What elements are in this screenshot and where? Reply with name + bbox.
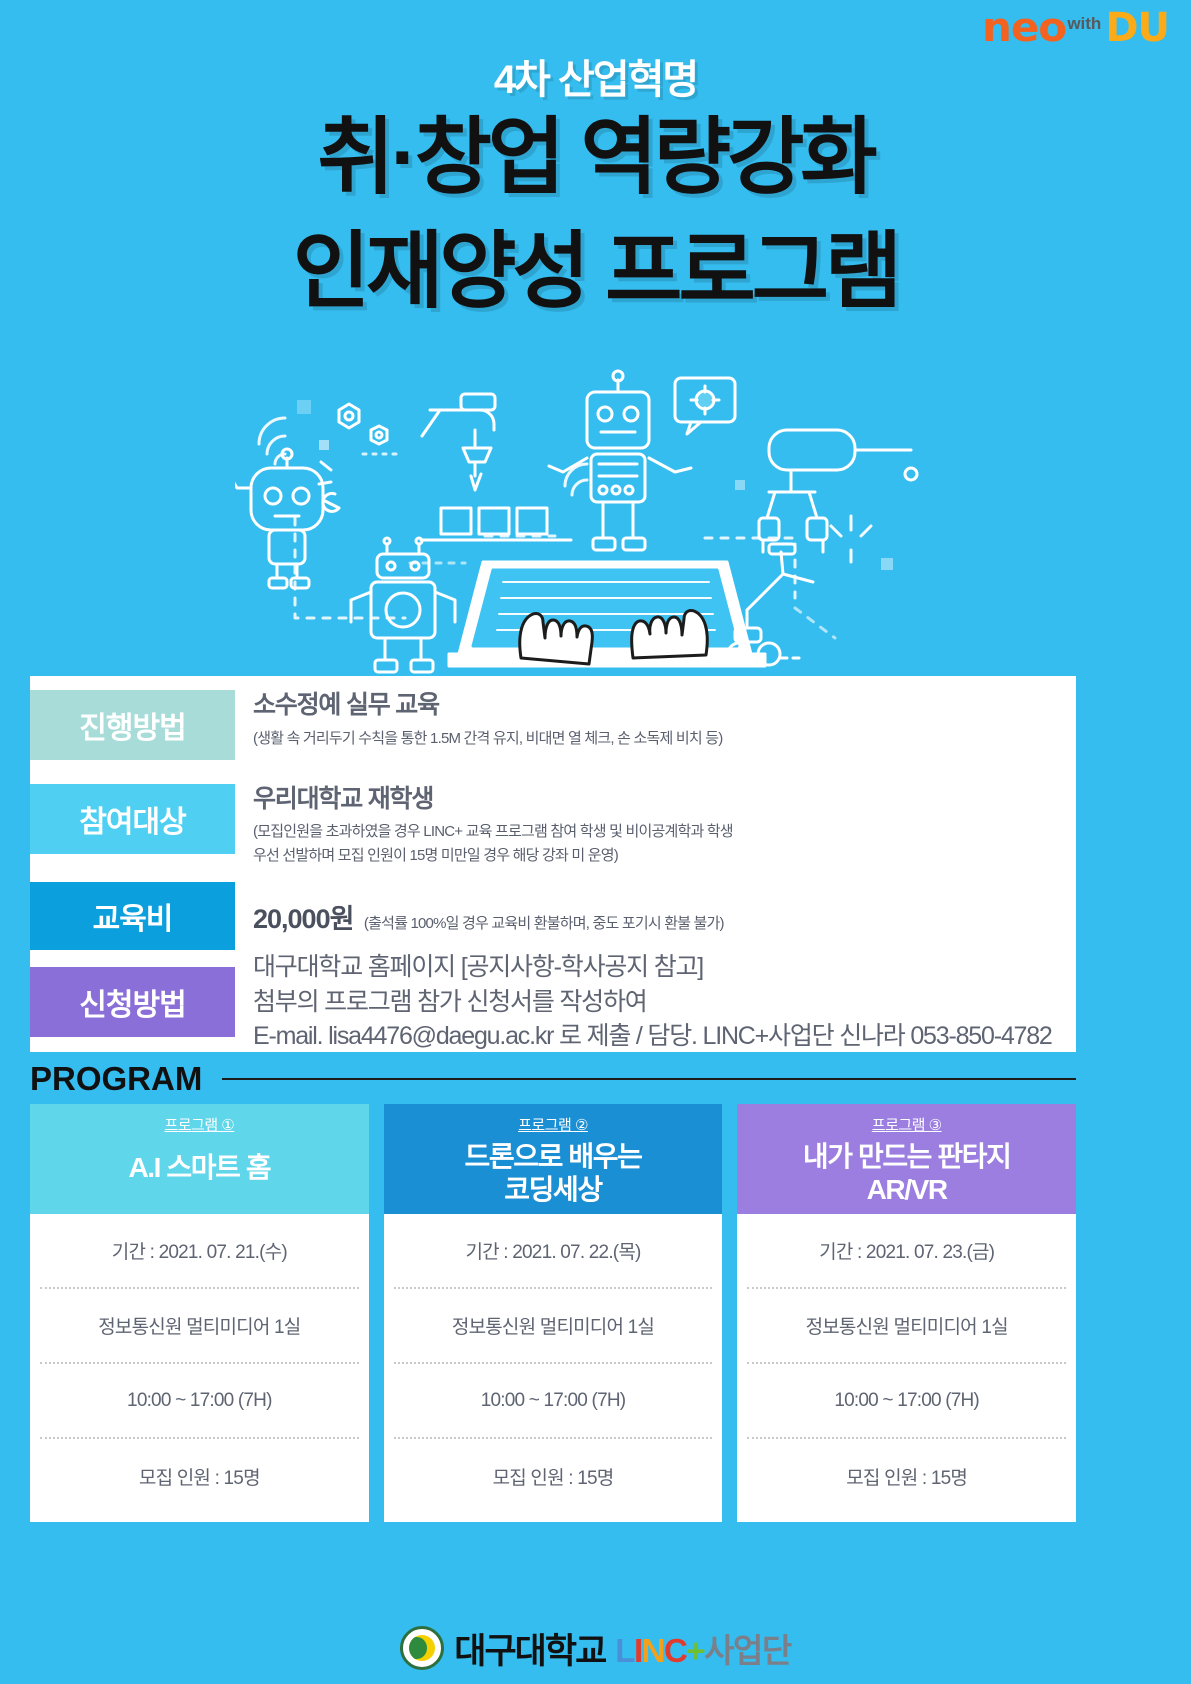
program-card-2-location: 정보통신원 멀티미디어 1실 — [394, 1289, 713, 1364]
headline-line-2: 인재양성 프로그램 — [0, 220, 1191, 322]
program-card-2-capacity: 모집 인원 : 15명 — [394, 1439, 713, 1514]
brand-du-text: DU — [1105, 8, 1169, 48]
info-label-fee: 교육비 — [30, 882, 235, 950]
info-body-apply: 대구대학교 홈페이지 [공지사항-학사공지 참고] 첨부의 프로그램 참가 신청… — [235, 950, 1076, 1054]
program-card-2-title-line2: 코딩세상 — [384, 1173, 723, 1206]
program-card-2-time: 10:00 ~ 17:00 (7H) — [394, 1364, 713, 1439]
headline-line-1: 취·창업 역량강화 — [0, 106, 1191, 208]
brand-neo-text: neo — [982, 8, 1066, 48]
program-card-1[interactable]: 프로그램 ① A.I 스마트 홈 기간 : 2021. 07. 21.(수) 정… — [30, 1104, 369, 1522]
program-card-2-period: 기간 : 2021. 07. 22.(목) — [394, 1214, 713, 1289]
program-card-2-title-line1: 드론으로 배우는 — [384, 1140, 723, 1173]
program-section-title: PROGRAM — [30, 1060, 202, 1098]
daegu-university-emblem-icon — [400, 1626, 444, 1670]
linc-letter-c: C — [664, 1632, 686, 1670]
program-divider — [222, 1078, 1076, 1080]
program-card-3-title-line2: AR/VR — [737, 1173, 1076, 1206]
program-card-3-location: 정보통신원 멀티미디어 1실 — [747, 1289, 1066, 1364]
program-card-1-period: 기간 : 2021. 07. 21.(수) — [40, 1214, 359, 1289]
info-row-fee: 교육비 20,000원 (출석률 100%일 경우 교육비 환불하며, 중도 포… — [30, 876, 1076, 956]
info-title-method: 소수정예 실무 교육 — [253, 690, 1062, 721]
program-card-1-capacity: 모집 인원 : 15명 — [40, 1439, 359, 1514]
program-card-list: 프로그램 ① A.I 스마트 홈 기간 : 2021. 07. 21.(수) 정… — [30, 1104, 1076, 1522]
program-card-3-header: 프로그램 ③ 내가 만드는 판타지 AR/VR — [737, 1104, 1076, 1214]
headline-eyebrow: 4차 산업혁명 — [0, 58, 1191, 102]
program-card-3-title-line1: 내가 만드는 판타지 — [737, 1140, 1076, 1173]
footer-logos: 대구대학교 L I N C + 사업단 — [0, 1612, 1191, 1684]
program-card-3-capacity: 모집 인원 : 15명 — [747, 1439, 1066, 1514]
program-card-2-body: 기간 : 2021. 07. 22.(목) 정보통신원 멀티미디어 1실 10:… — [384, 1214, 723, 1522]
info-apply-line-0: 대구대학교 홈페이지 [공지사항-학사공지 참고] — [253, 950, 1062, 985]
program-card-3-body: 기간 : 2021. 07. 23.(금) 정보통신원 멀티미디어 1실 10:… — [737, 1214, 1076, 1522]
info-row-method: 진행방법 소수정예 실무 교육 (생활 속 거리두기 수칙을 통한 1.5M 간… — [30, 676, 1076, 768]
program-card-3-title: 내가 만드는 판타지 AR/VR — [737, 1140, 1076, 1206]
robotics-illustration — [235, 358, 955, 676]
program-section-header: PROGRAM — [30, 1060, 1076, 1098]
info-sub-target-1: 우선 선발하며 모집 인원이 15명 미만일 경우 해당 강좌 미 운영) — [253, 844, 1062, 867]
program-card-1-location: 정보통신원 멀티미디어 1실 — [40, 1289, 359, 1364]
info-label-target: 참여대상 — [30, 784, 235, 854]
program-card-2-header: 프로그램 ② 드론으로 배우는 코딩세상 — [384, 1104, 723, 1214]
poster-headline: 4차 산업혁명 취·창업 역량강화 인재양성 프로그램 — [0, 58, 1191, 323]
info-apply-line-2: E-mail. lisa4476@daegu.ac.kr 로 제출 / 담당. … — [253, 1019, 1062, 1054]
linc-letter-plus: + — [686, 1632, 704, 1670]
program-card-1-body: 기간 : 2021. 07. 21.(수) 정보통신원 멀티미디어 1실 10:… — [30, 1214, 369, 1522]
info-title-target: 우리대학교 재학생 — [253, 784, 1062, 815]
info-fee-note: (출석률 100%일 경우 교육비 환불하며, 중도 포기시 환불 불가) — [364, 915, 724, 932]
program-card-1-title: A.I 스마트 홈 — [30, 1151, 369, 1184]
program-card-2-title: 드론으로 배우는 코딩세상 — [384, 1140, 723, 1206]
linc-letter-n: N — [642, 1632, 664, 1670]
info-apply-line-1: 첨부의 프로그램 참가 신청서를 작성하여 — [253, 985, 1062, 1020]
program-card-3-period: 기간 : 2021. 07. 23.(금) — [747, 1214, 1066, 1289]
program-card-1-time: 10:00 ~ 17:00 (7H) — [40, 1364, 359, 1439]
program-card-2[interactable]: 프로그램 ② 드론으로 배우는 코딩세상 기간 : 2021. 07. 22.(… — [384, 1104, 723, 1522]
info-row-target: 참여대상 우리대학교 재학생 (모집인원을 초과하였을 경우 LINC+ 교육 … — [30, 768, 1076, 876]
info-body-method: 소수정예 실무 교육 (생활 속 거리두기 수칙을 통한 1.5M 간격 유지,… — [235, 690, 1076, 751]
linc-letter-i: I — [634, 1632, 642, 1670]
program-card-3[interactable]: 프로그램 ③ 내가 만드는 판타지 AR/VR 기간 : 2021. 07. 2… — [737, 1104, 1076, 1522]
program-card-1-header: 프로그램 ① A.I 스마트 홈 — [30, 1104, 369, 1214]
info-fee-amount: 20,000원 — [253, 904, 353, 934]
info-body-fee: 20,000원 (출석률 100%일 경우 교육비 환불하며, 중도 포기시 환… — [235, 897, 1076, 936]
program-card-3-number: 프로그램 ③ — [737, 1114, 1076, 1135]
info-sub-target-0: (모집인원을 초과하였을 경우 LINC+ 교육 프로그램 참여 학생 및 비이… — [253, 820, 1062, 843]
footer-university-name: 대구대학교 — [454, 1623, 605, 1674]
program-card-1-number: 프로그램 ① — [30, 1114, 369, 1135]
linc-suffix: 사업단 — [704, 1624, 791, 1672]
info-body-target: 우리대학교 재학생 (모집인원을 초과하였을 경우 LINC+ 교육 프로그램 … — [235, 784, 1076, 867]
program-card-3-time: 10:00 ~ 17:00 (7H) — [747, 1364, 1066, 1439]
program-card-2-number: 프로그램 ② — [384, 1114, 723, 1135]
brand-with-text: with — [1067, 15, 1101, 32]
info-sub-method-0: (생활 속 거리두기 수칙을 통한 1.5M 간격 유지, 비대면 열 체크, … — [253, 727, 1062, 750]
info-panel: 진행방법 소수정예 실무 교육 (생활 속 거리두기 수칙을 통한 1.5M 간… — [30, 676, 1076, 1052]
brand-logo: neo with DU — [984, 8, 1169, 48]
info-row-apply: 신청방법 대구대학교 홈페이지 [공지사항-학사공지 참고] 첨부의 프로그램 … — [30, 956, 1076, 1048]
linc-letter-l: L — [615, 1632, 634, 1670]
linc-plus-logo: L I N C + 사업단 — [615, 1624, 790, 1672]
info-label-apply: 신청방법 — [30, 967, 235, 1037]
info-label-method: 진행방법 — [30, 690, 235, 760]
